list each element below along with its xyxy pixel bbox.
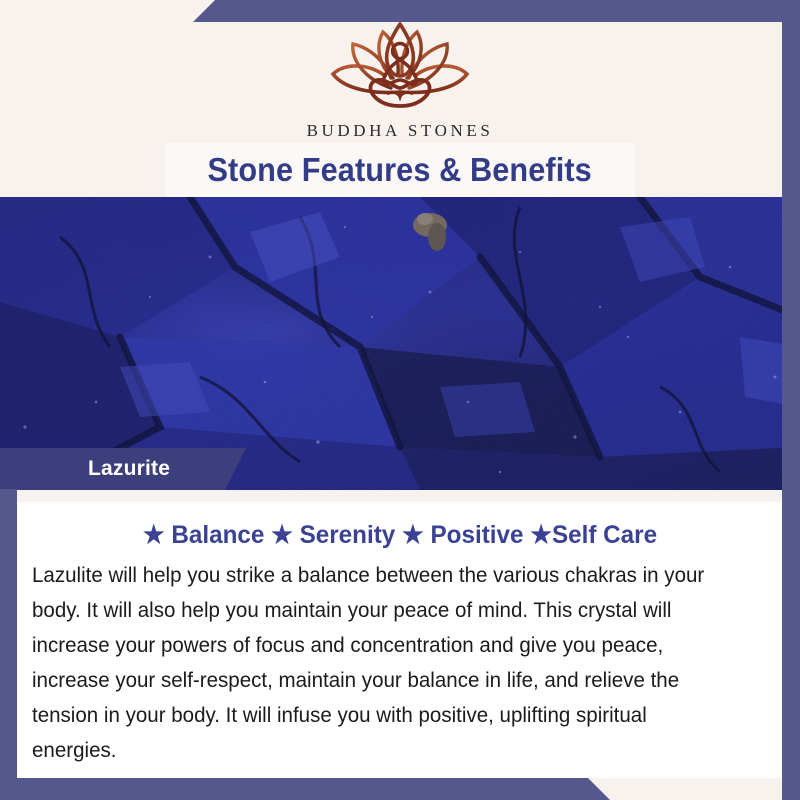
keyword-list: ★ Balance ★ Serenity ★ Positive ★Self Ca… xyxy=(28,520,771,550)
lotus-meditation-figure-icon xyxy=(0,18,800,119)
title-banner: Stone Features & Benefits xyxy=(165,143,635,197)
stone-photo xyxy=(0,197,800,490)
stone-name-label: Lazurite xyxy=(88,457,170,481)
stone-name-banner: Lazurite xyxy=(0,448,246,490)
poster-root: BUDDHA STONES xyxy=(0,0,800,800)
frame-right-strip xyxy=(782,0,800,800)
frame-bottom-strip xyxy=(0,778,800,800)
brand-logo: BUDDHA STONES xyxy=(0,18,800,141)
brand-name: BUDDHA STONES xyxy=(0,121,800,141)
description-section: ★ Balance ★ Serenity ★ Positive ★Self Ca… xyxy=(17,490,783,778)
description-text: Lazulite will help you strike a balance … xyxy=(32,558,722,768)
page-title: Stone Features & Benefits xyxy=(208,151,592,189)
frame-left-strip xyxy=(0,489,17,800)
cream-divider-strip xyxy=(17,490,783,502)
